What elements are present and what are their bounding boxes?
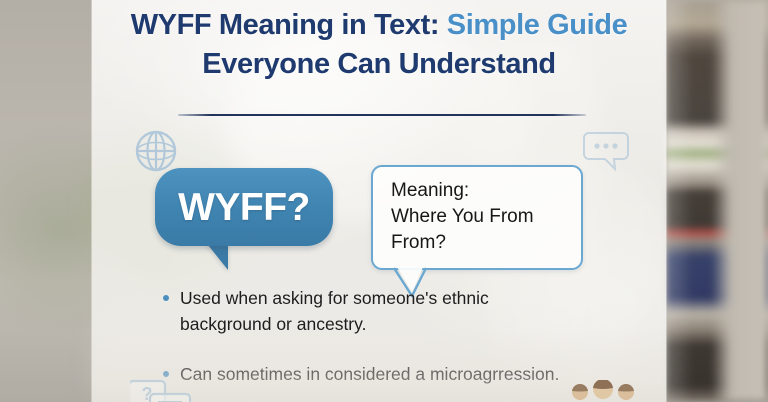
bullet-dot-icon <box>163 295 169 301</box>
title-line-1: WYFF Meaning in Text: Simple Guide <box>92 6 666 45</box>
people-group-icon <box>564 380 642 402</box>
globe-icon <box>134 129 178 173</box>
chat-dots-icon <box>583 129 629 171</box>
bullet-dot-icon <box>163 371 169 377</box>
title-line-2: Everyone Can Understand <box>92 45 666 84</box>
title-line-1-accent: Simple Guide <box>447 9 628 41</box>
list-item: Can sometimes in considered a microagrre… <box>163 361 633 387</box>
term-bubble-label: WYFF? <box>178 188 310 227</box>
definition-bubble: Meaning: Where You From From? <box>371 165 583 270</box>
list-item-text: Can sometimes in considered a microagrre… <box>180 361 559 387</box>
list-item: Used when asking for someone's ethnic ba… <box>163 285 633 337</box>
term-bubble: WYFF? <box>155 168 333 246</box>
background-wall-post <box>712 0 768 402</box>
bullet-list: Used when asking for someone's ethnic ba… <box>163 285 633 402</box>
question-bubbles-icon: ? <box>130 378 192 402</box>
definition-bubble-text: Meaning: Where You From From? <box>391 178 581 256</box>
title-line-1-main: WYFF Meaning in Text: <box>131 9 447 41</box>
infographic-canvas: WYFF Meaning in Text: Simple Guide Every… <box>0 0 768 402</box>
page-title: WYFF Meaning in Text: Simple Guide Every… <box>92 6 666 84</box>
list-item-text: Used when asking for someone's ethnic ba… <box>180 285 580 337</box>
title-divider <box>178 114 586 116</box>
